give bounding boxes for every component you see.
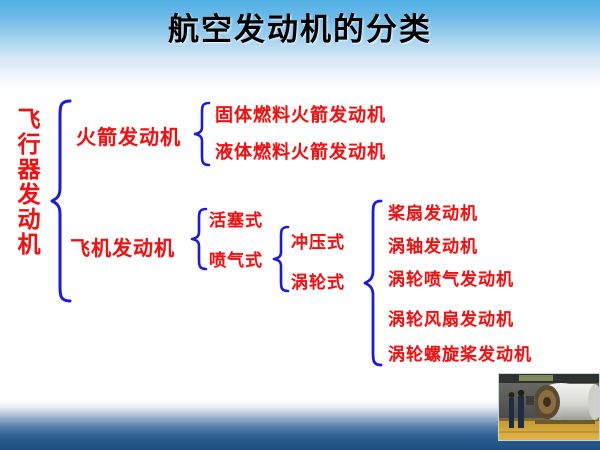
node-ramjet-type: 冲压式: [291, 228, 345, 253]
brace-root: [50, 98, 74, 304]
node-turbofan-engine: 涡轮风扇发动机: [388, 305, 514, 330]
brace-turbine: [363, 198, 385, 368]
node-turboprop-engine: 涡轮螺旋桨发动机: [388, 340, 532, 365]
node-turbojet-engine: 涡轮喷气发动机: [388, 265, 514, 290]
node-piston-type: 活塞式: [209, 206, 263, 231]
node-liquid-fuel-rocket-engine: 液体燃料火箭发动机: [215, 138, 386, 164]
jet-engine-photo: [498, 373, 600, 441]
brace-jet: [272, 224, 292, 294]
node-solid-fuel-rocket-engine: 固体燃料火箭发动机: [215, 101, 386, 127]
page-title: 航空发动机的分类: [0, 4, 600, 49]
node-propfan-engine: 桨扇发动机: [388, 199, 478, 224]
brace-aircraft: [190, 206, 210, 272]
node-rocket-engine: 火箭发动机: [76, 121, 181, 150]
slide-canvas: 航空发动机的分类 飞行器发动机 火箭发动机 固体燃料火箭发动机 液体燃料火箭发动…: [0, 0, 600, 450]
node-turbine-type: 涡轮式: [291, 268, 345, 293]
node-aircraft-engine: 飞机发动机: [70, 232, 175, 261]
brace-rocket: [193, 100, 213, 168]
diagram-root-label: 飞行器发动机: [14, 108, 44, 258]
node-turboshaft-engine: 涡轴发动机: [388, 232, 478, 257]
node-jet-type: 喷气式: [209, 246, 263, 271]
